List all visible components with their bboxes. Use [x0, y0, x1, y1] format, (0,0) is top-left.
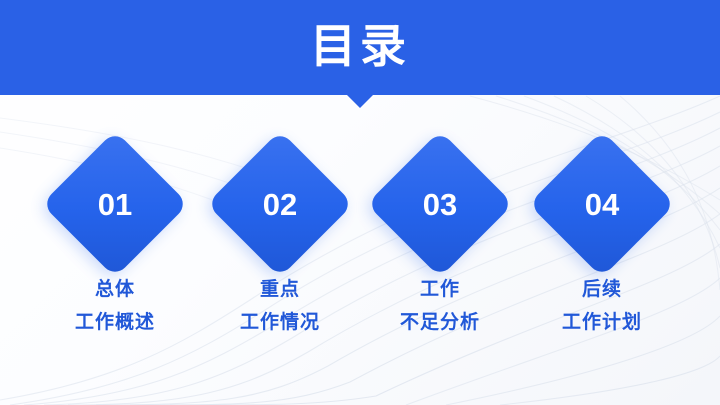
diamond-badge-4[interactable]: 04	[550, 152, 654, 256]
item-label-line2: 不足分析	[359, 306, 521, 339]
item-label-line1: 后续	[521, 273, 683, 306]
agenda-items: 01 总体 工作概述 02 重点 工作情况 03 工作	[0, 95, 720, 405]
item-labels-2: 重点 工作情况	[199, 273, 361, 339]
item-number: 04	[550, 152, 654, 256]
item-number: 01	[63, 152, 167, 256]
item-number: 03	[388, 152, 492, 256]
item-label-line2: 工作情况	[199, 306, 361, 339]
presentation-slide: 目录 01 总体 工作概述 02 重点 工作情况	[0, 0, 720, 405]
item-labels-4: 后续 工作计划	[521, 273, 683, 339]
item-number: 02	[228, 152, 332, 256]
item-label-line2: 工作概述	[34, 306, 196, 339]
item-labels-1: 总体 工作概述	[34, 273, 196, 339]
item-label-line1: 重点	[199, 273, 361, 306]
item-label-line2: 工作计划	[521, 306, 683, 339]
agenda-item-1[interactable]: 01 总体 工作概述	[34, 95, 196, 405]
slide-header-band: 目录	[0, 0, 720, 95]
diamond-badge-2[interactable]: 02	[228, 152, 332, 256]
item-label-line1: 工作	[359, 273, 521, 306]
agenda-item-4[interactable]: 04 后续 工作计划	[521, 95, 683, 405]
item-label-line1: 总体	[34, 273, 196, 306]
header-notch-triangle-icon	[347, 95, 373, 108]
page-title: 目录	[0, 0, 720, 95]
item-labels-3: 工作 不足分析	[359, 273, 521, 339]
agenda-item-2[interactable]: 02 重点 工作情况	[199, 95, 361, 405]
diamond-badge-1[interactable]: 01	[63, 152, 167, 256]
diamond-badge-3[interactable]: 03	[388, 152, 492, 256]
agenda-item-3[interactable]: 03 工作 不足分析	[359, 95, 521, 405]
